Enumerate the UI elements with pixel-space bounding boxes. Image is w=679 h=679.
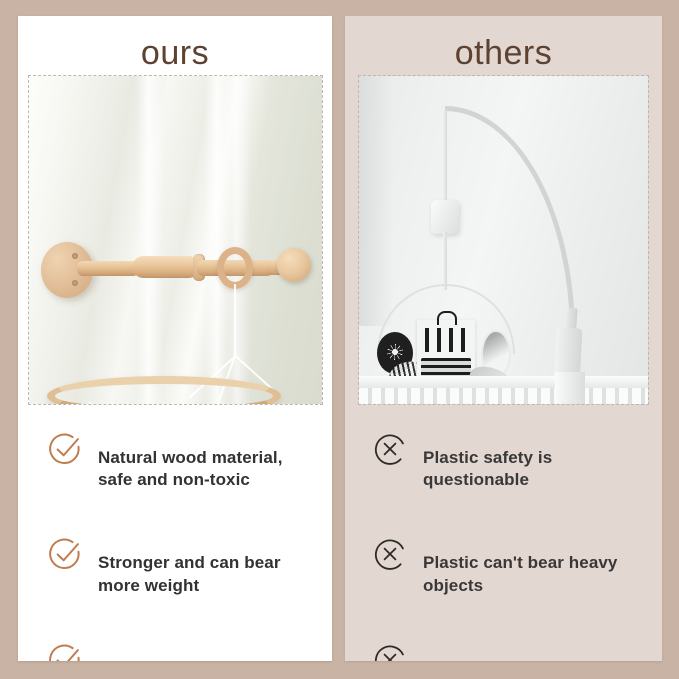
feature-text: Easy to install and won't fall off bbox=[98, 657, 316, 661]
others-panel: others bbox=[345, 16, 662, 661]
card-pattern bbox=[425, 328, 467, 352]
screw-icon bbox=[72, 253, 78, 259]
feature-item: Plastic safety is questionable bbox=[371, 429, 662, 509]
hanging-string bbox=[234, 284, 236, 358]
wooden-ball-finial bbox=[277, 248, 311, 282]
feature-text: Stronger and can bear more weight bbox=[98, 551, 316, 597]
cross-circle-icon bbox=[371, 430, 409, 468]
feature-text: Ordinary design and easy to fall off bbox=[423, 657, 629, 661]
others-product-photo bbox=[358, 75, 649, 405]
feature-item: Easy to install and won't fall off bbox=[46, 640, 332, 661]
crib-slats bbox=[359, 388, 648, 405]
ours-feature-list: Natural wood material, safe and non-toxi… bbox=[18, 405, 332, 662]
crib-side-panel bbox=[555, 372, 585, 405]
wooden-hanging-ring bbox=[217, 247, 253, 289]
ours-panel: ours bbox=[18, 16, 332, 661]
feature-text: Plastic can't bear heavy objects bbox=[423, 551, 629, 597]
others-title: others bbox=[345, 16, 662, 75]
wall-shadow bbox=[359, 76, 393, 326]
check-circle-icon bbox=[46, 430, 84, 468]
curtain-highlight bbox=[225, 76, 251, 404]
mobile-motor-housing bbox=[431, 200, 459, 234]
feature-item: Stronger and can bear more weight bbox=[46, 534, 332, 614]
card-loop bbox=[437, 311, 457, 325]
card-pattern bbox=[421, 358, 471, 378]
wooden-rod-segment bbox=[77, 261, 139, 276]
curtain-highlight bbox=[137, 76, 163, 404]
hanging-rod bbox=[443, 110, 447, 210]
wooden-rod-segment bbox=[133, 256, 199, 278]
comparison-infographic: ours bbox=[0, 0, 679, 679]
check-circle-icon bbox=[46, 641, 84, 661]
black-white-toy-card bbox=[417, 320, 475, 382]
others-feature-list: Plastic safety is questionable Plastic c… bbox=[345, 405, 662, 662]
feature-item: Ordinary design and easy to fall off bbox=[371, 640, 662, 661]
hanging-rod bbox=[443, 232, 447, 290]
check-circle-icon bbox=[46, 535, 84, 573]
ours-title: ours bbox=[18, 16, 332, 75]
pom-pom bbox=[263, 404, 309, 405]
feature-text: Plastic safety is questionable bbox=[423, 446, 629, 492]
wooden-mobile-scene bbox=[29, 76, 322, 404]
pom-string bbox=[89, 402, 91, 405]
feature-item: Plastic can't bear heavy objects bbox=[371, 534, 662, 614]
feature-item: Natural wood material, safe and non-toxi… bbox=[46, 429, 332, 509]
cross-circle-icon bbox=[371, 535, 409, 573]
screw-icon bbox=[72, 280, 78, 286]
feature-text: Natural wood material, safe and non-toxi… bbox=[98, 446, 316, 492]
plastic-mobile-scene bbox=[359, 76, 648, 404]
ours-product-photo bbox=[28, 75, 323, 405]
cross-circle-icon bbox=[371, 641, 409, 661]
